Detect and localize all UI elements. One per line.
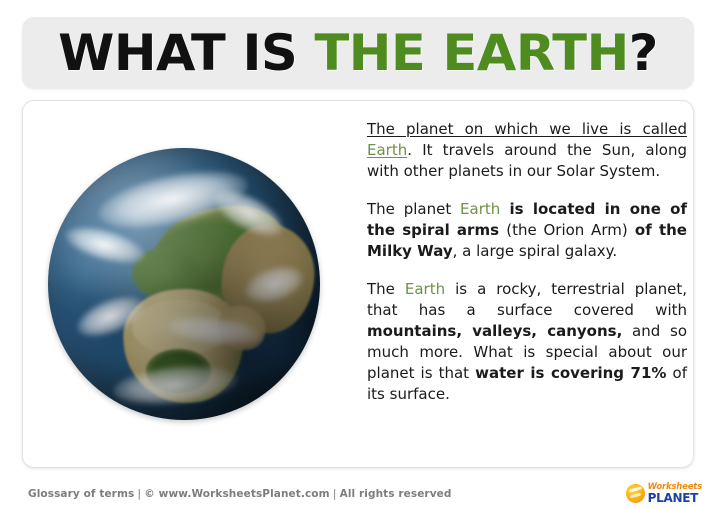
text-segment: mountains, valleys, canyons, xyxy=(367,322,622,340)
paragraph-location: The planet Earth is located in one of th… xyxy=(367,199,687,262)
text-segment: (the Orion Arm) xyxy=(506,221,627,239)
footer-separator-2: | xyxy=(330,488,340,500)
footer-rights: All rights reserved xyxy=(340,488,452,500)
content-card: The planet on which we live is called Ea… xyxy=(22,100,694,468)
footer: Glossary of terms|© www.WorksheetsPlanet… xyxy=(0,478,720,509)
title-question-mark: ? xyxy=(629,24,658,82)
copyright-icon: © xyxy=(144,488,155,500)
text-segment: The planet on which we live is called xyxy=(367,120,687,138)
description-text-pane: The planet on which we live is called Ea… xyxy=(341,101,693,467)
earth-image-pane xyxy=(23,101,341,467)
earth-keyword: Earth xyxy=(405,280,445,298)
earth-globe-image xyxy=(48,148,320,420)
footer-credit-line: Glossary of terms|© www.WorksheetsPlanet… xyxy=(28,488,452,500)
logo-wordmark: Worksheets PLANET xyxy=(648,483,702,505)
paragraph-composition: The Earth is a rocky, terrestrial planet… xyxy=(367,279,687,405)
earth-keyword: Earth xyxy=(460,200,500,218)
logo-bottom-word: PLANET xyxy=(648,492,702,504)
text-segment: . It travels around the Sun, along with … xyxy=(367,141,687,180)
paragraph-definition: The planet on which we live is called Ea… xyxy=(367,119,687,182)
footer-glossary-label: Glossary of terms xyxy=(28,488,134,500)
worksheets-planet-globe-icon xyxy=(626,484,645,503)
worksheets-planet-logo[interactable]: Worksheets PLANET xyxy=(626,483,702,505)
text-segment-bold: mountains, valleys, canyons, xyxy=(367,322,622,340)
earth-keyword: Earth xyxy=(367,141,407,159)
footer-separator-1: | xyxy=(134,488,144,500)
logo-top-word: Worksheets xyxy=(648,483,702,492)
title-banner: WHAT IS THE EARTH? xyxy=(22,17,694,89)
page-title: WHAT IS THE EARTH? xyxy=(58,28,658,78)
text-segment: water is covering 71% xyxy=(475,364,666,382)
text-segment-bold: water is covering 71% xyxy=(475,364,666,382)
footer-website[interactable]: www.WorksheetsPlanet.com xyxy=(159,488,330,500)
worksheet-page: WHAT IS THE EARTH? xyxy=(0,0,720,509)
text-segment: The xyxy=(367,280,405,298)
text-segment: , a large spiral galaxy. xyxy=(453,242,618,260)
text-segment: The planet xyxy=(367,200,460,218)
title-green-part: THE EARTH xyxy=(315,24,629,82)
title-black-part: WHAT IS xyxy=(58,24,314,82)
